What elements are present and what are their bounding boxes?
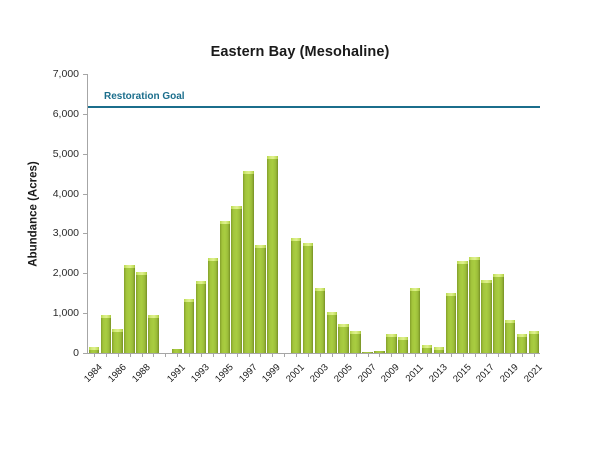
x-axis-tick-mark — [296, 353, 297, 357]
x-axis-tick-mark — [153, 353, 154, 357]
bar-highlight-cap — [243, 171, 253, 174]
x-axis-tick-mark — [403, 353, 404, 357]
x-axis-tick-mark — [165, 353, 166, 357]
bar[interactable] — [446, 293, 456, 353]
bar-slot — [350, 74, 362, 353]
bar[interactable] — [315, 288, 325, 353]
x-axis-tick-mark — [510, 353, 511, 357]
bar[interactable] — [481, 280, 491, 353]
bar[interactable] — [457, 261, 467, 353]
x-axis-tick-mark — [475, 353, 476, 357]
x-axis-tick-mark — [344, 353, 345, 357]
bar-slot — [112, 74, 124, 353]
x-axis-tick-mark — [332, 353, 333, 357]
bar[interactable] — [291, 238, 301, 353]
x-axis-tick-mark — [189, 353, 190, 357]
bar-slot — [492, 74, 504, 353]
bar-slot — [219, 74, 231, 353]
chart-title: Eastern Bay (Mesohaline) — [0, 44, 600, 60]
bar[interactable] — [231, 206, 241, 353]
y-axis-tick-label: 2,000 — [53, 267, 79, 279]
bar-highlight-cap — [338, 324, 348, 327]
x-axis-tick-mark — [213, 353, 214, 357]
bar-slot — [124, 74, 136, 353]
bar-slot — [314, 74, 326, 353]
y-axis-tick-mark — [83, 313, 87, 314]
bar-highlight-cap — [457, 261, 467, 264]
bar-highlight-cap — [184, 299, 194, 302]
bar-highlight-cap — [469, 257, 479, 260]
bar-highlight-cap — [196, 281, 206, 284]
bar-slot — [159, 74, 171, 353]
bar-highlight-cap — [529, 331, 539, 334]
bar-highlight-cap — [481, 280, 491, 283]
plot-area: 01,0002,0003,0004,0005,0006,0007,000 198… — [88, 74, 540, 353]
bar-slot — [421, 74, 433, 353]
bar[interactable] — [101, 315, 111, 353]
y-axis-tick-label: 1,000 — [53, 307, 79, 319]
bar-highlight-cap — [89, 347, 99, 350]
bar[interactable] — [184, 299, 194, 353]
y-axis-tick-mark — [83, 154, 87, 155]
x-axis-tick-mark — [272, 353, 273, 357]
y-axis-tick-label: 7,000 — [53, 68, 79, 80]
bar-highlight-cap — [398, 337, 408, 340]
bar-slot — [504, 74, 516, 353]
bar-highlight-cap — [231, 206, 241, 209]
bar-slot — [409, 74, 421, 353]
bar-slot — [362, 74, 374, 353]
bar-slot — [516, 74, 528, 353]
bar-slot — [278, 74, 290, 353]
bar-highlight-cap — [101, 315, 111, 318]
x-axis-tick-mark — [486, 353, 487, 357]
bar[interactable] — [243, 171, 253, 353]
bar[interactable] — [136, 272, 146, 353]
bar-highlight-cap — [136, 272, 146, 275]
bar-highlight-cap — [493, 274, 503, 277]
x-axis-tick-mark — [106, 353, 107, 357]
bar[interactable] — [255, 245, 265, 353]
x-axis-tick-mark — [118, 353, 119, 357]
bar-highlight-cap — [350, 331, 360, 334]
x-axis-tick-mark — [308, 353, 309, 357]
bar-highlight-cap — [267, 156, 277, 159]
restoration-goal-line — [88, 106, 540, 108]
bar-highlight-cap — [446, 293, 456, 296]
bar-highlight-cap — [148, 315, 158, 318]
y-axis-title-label: Abundance (Acres) — [28, 161, 40, 266]
bar-slot — [445, 74, 457, 353]
x-axis-tick-mark — [415, 353, 416, 357]
bar-slot — [136, 74, 148, 353]
x-axis-tick-mark — [522, 353, 523, 357]
bar-slot — [433, 74, 445, 353]
bar-highlight-cap — [410, 288, 420, 291]
y-axis-tick-mark — [83, 194, 87, 195]
bar-slot — [255, 74, 267, 353]
bar-slot — [147, 74, 159, 353]
y-axis-tick-mark — [83, 74, 87, 75]
bar[interactable] — [493, 274, 503, 353]
bar-slot — [326, 74, 338, 353]
bar[interactable] — [220, 221, 230, 353]
x-axis-tick-mark — [94, 353, 95, 357]
y-axis-tick-mark — [83, 233, 87, 234]
chart-container: Eastern Bay (Mesohaline) Abundance (Acre… — [0, 0, 600, 460]
bar-highlight-cap — [291, 238, 301, 241]
bar-highlight-cap — [517, 334, 527, 337]
x-axis-tick-mark — [356, 353, 357, 357]
bars-layer — [88, 74, 540, 353]
bar-highlight-cap — [303, 243, 313, 246]
bar-slot — [338, 74, 350, 353]
x-axis-tick-mark — [463, 353, 464, 357]
bar-slot — [385, 74, 397, 353]
bar-highlight-cap — [220, 221, 230, 224]
bar[interactable] — [208, 258, 218, 353]
x-axis-tick-mark — [201, 353, 202, 357]
bar-slot — [243, 74, 255, 353]
bar[interactable] — [148, 315, 158, 353]
bar-highlight-cap — [112, 329, 122, 332]
restoration-goal-label: Restoration Goal — [104, 91, 185, 102]
bar[interactable] — [267, 156, 277, 353]
y-axis-tick-label: 0 — [73, 347, 79, 359]
bar-slot — [183, 74, 195, 353]
bar-highlight-cap — [315, 288, 325, 291]
x-axis-tick-mark — [225, 353, 226, 357]
x-axis-tick-mark — [260, 353, 261, 357]
bar-slot — [469, 74, 481, 353]
bar[interactable] — [410, 288, 420, 353]
x-axis-tick-mark — [534, 353, 535, 357]
x-axis-tick-mark — [451, 353, 452, 357]
bar-slot — [481, 74, 493, 353]
bar-highlight-cap — [386, 334, 396, 337]
x-axis-tick-mark — [391, 353, 392, 357]
bar[interactable] — [505, 320, 515, 353]
x-axis-tick-mark — [177, 353, 178, 357]
y-axis-tick-mark — [83, 114, 87, 115]
bar-slot — [231, 74, 243, 353]
x-axis-tick-mark — [142, 353, 143, 357]
bar-highlight-cap — [327, 312, 337, 315]
bar-slot — [171, 74, 183, 353]
bar-slot — [302, 74, 314, 353]
y-axis-tick-label: 4,000 — [53, 188, 79, 200]
x-axis-tick-mark — [249, 353, 250, 357]
y-axis-tick-label: 5,000 — [53, 148, 79, 160]
bar[interactable] — [303, 243, 313, 353]
x-axis-tick-mark — [439, 353, 440, 357]
bar-slot — [457, 74, 469, 353]
x-axis-tick-label: 2021 — [537, 347, 560, 370]
bar-highlight-cap — [255, 245, 265, 248]
bar-slot — [266, 74, 278, 353]
x-axis-tick-mark — [284, 353, 285, 357]
bar-slot — [100, 74, 112, 353]
bar[interactable] — [469, 257, 479, 353]
bar[interactable] — [327, 312, 337, 353]
bar-highlight-cap — [124, 265, 134, 268]
x-axis-tick-mark — [427, 353, 428, 357]
y-axis-title: Abundance (Acres) — [26, 74, 42, 353]
bar-highlight-cap — [505, 320, 515, 323]
bar-slot — [528, 74, 540, 353]
bar-slot — [88, 74, 100, 353]
x-axis-tick-mark — [379, 353, 380, 357]
y-axis-tick-mark — [83, 273, 87, 274]
bar-slot — [397, 74, 409, 353]
bar-slot — [207, 74, 219, 353]
bar-slot — [195, 74, 207, 353]
y-axis-tick-mark — [83, 353, 87, 354]
x-axis-tick-mark — [130, 353, 131, 357]
y-axis-tick-label: 3,000 — [53, 227, 79, 239]
bar-slot — [290, 74, 302, 353]
bar-slot — [373, 74, 385, 353]
y-axis-tick-label: 6,000 — [53, 108, 79, 120]
bar[interactable] — [196, 281, 206, 353]
x-axis-tick-mark — [368, 353, 369, 357]
x-axis-tick-mark — [237, 353, 238, 357]
bar-highlight-cap — [208, 258, 218, 261]
x-axis-tick-mark — [498, 353, 499, 357]
x-axis-tick-mark — [320, 353, 321, 357]
bar[interactable] — [124, 265, 134, 353]
